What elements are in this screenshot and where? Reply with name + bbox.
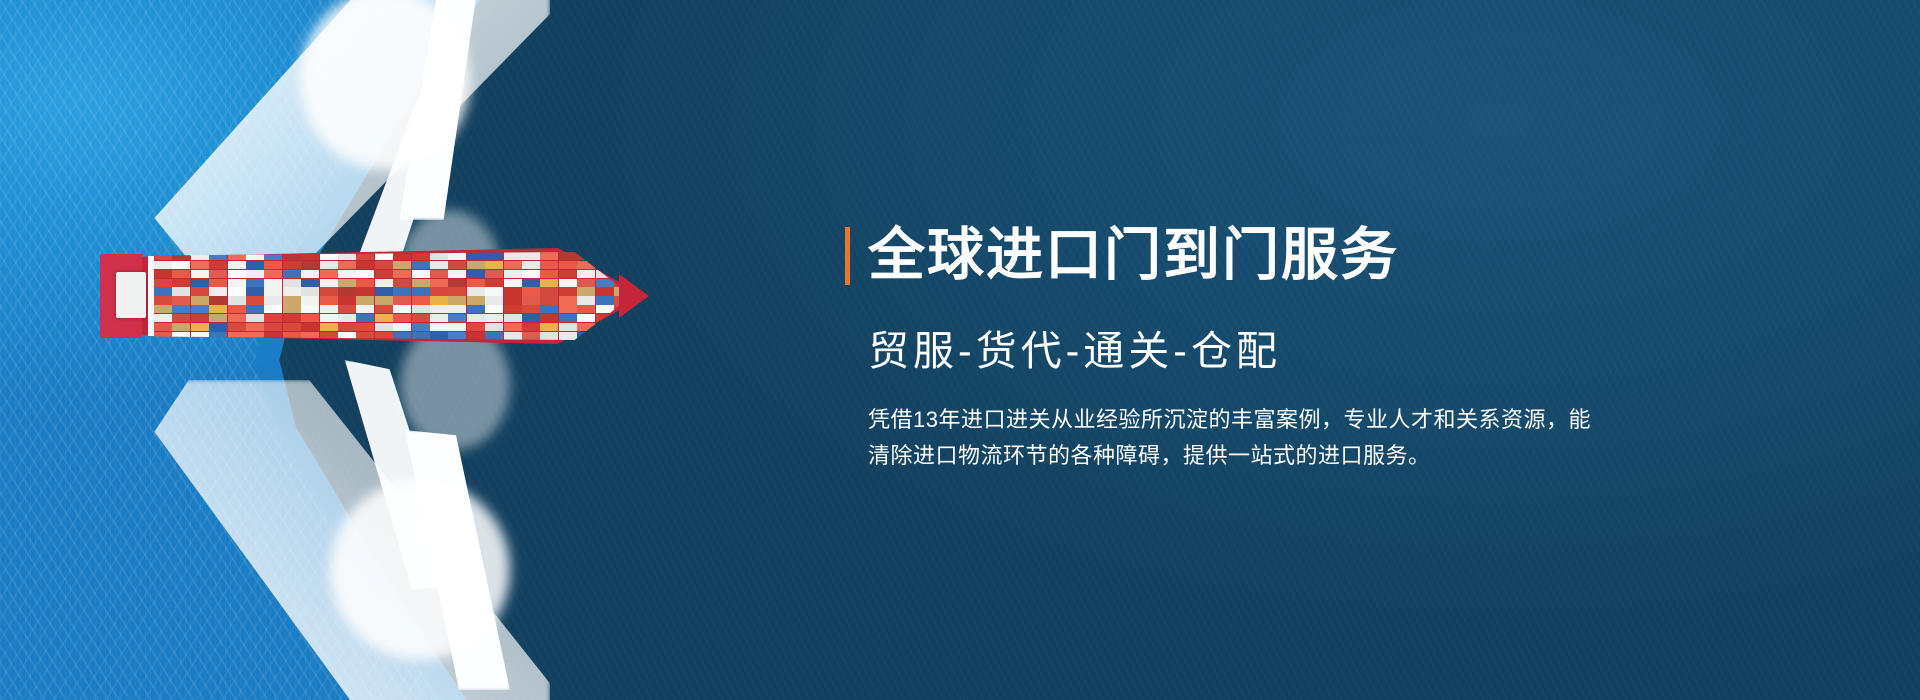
headline-row: 全球进口门到门服务 bbox=[845, 227, 1825, 285]
ship-bridge bbox=[116, 272, 146, 318]
ship-deck-line bbox=[148, 256, 154, 336]
container-ship bbox=[100, 248, 645, 344]
subtitle: 贸服-货代-通关-仓配 bbox=[868, 329, 1825, 374]
accent-bar-icon bbox=[845, 227, 850, 285]
cargo-containers bbox=[154, 252, 632, 340]
description-text: 凭借13年进口进关从业经验所沉淀的丰富案例，专业人才和关系资源，能清除进口物流环… bbox=[868, 402, 1608, 473]
banner-text-content: 全球进口门到门服务 贸服-货代-通关-仓配 凭借13年进口进关从业经验所沉淀的丰… bbox=[845, 0, 1825, 700]
page-title: 全球进口门到门服务 bbox=[868, 227, 1399, 284]
ship-bow bbox=[619, 274, 649, 318]
hero-banner: 全球进口门到门服务 贸服-货代-通关-仓配 凭借13年进口进关从业经验所沉淀的丰… bbox=[0, 0, 1920, 700]
